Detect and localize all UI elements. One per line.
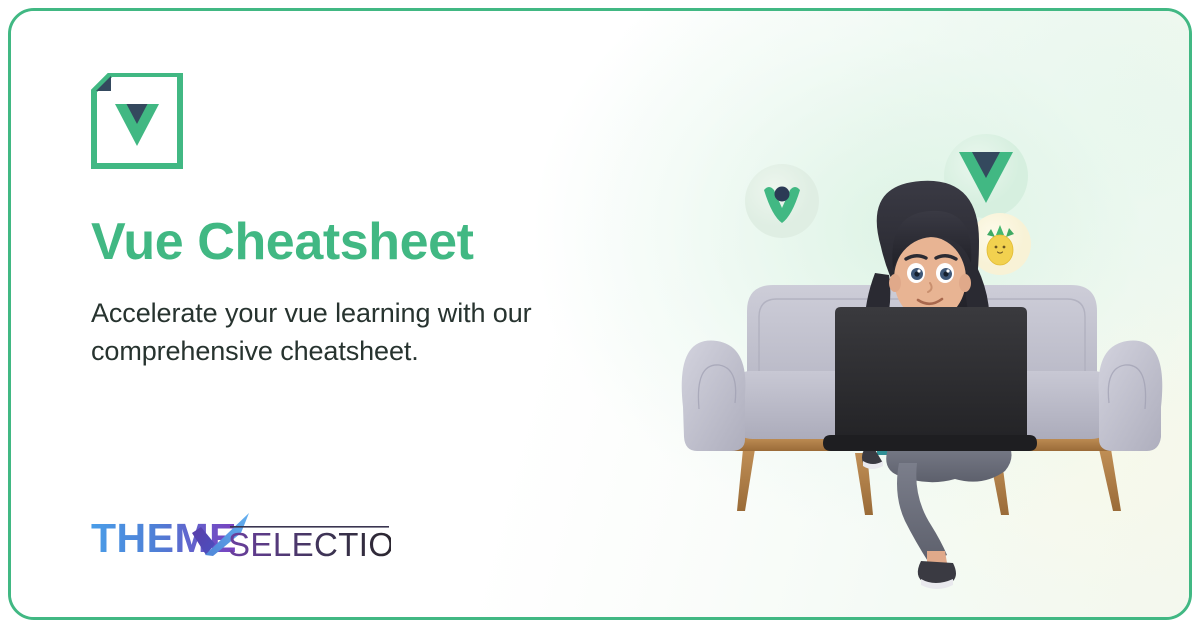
page-title: Vue Cheatsheet (91, 215, 474, 270)
cheatsheet-card: Vue Cheatsheet Accelerate your vue learn… (8, 8, 1192, 620)
vue-v-icon (115, 104, 159, 146)
vue-document-logo (91, 73, 183, 169)
laptop (823, 307, 1037, 451)
ankle (927, 551, 947, 563)
pineapple-icon (987, 225, 1014, 265)
hero-illustration (659, 11, 1179, 620)
themeselection-logo[interactable]: THEME SELECTION (91, 509, 391, 563)
brand-word-selection: SELECTION (228, 526, 391, 563)
vuetify-badge (745, 164, 819, 238)
page-subtitle: Accelerate your vue learning with our co… (91, 294, 621, 371)
left-content-column: Vue Cheatsheet Accelerate your vue learn… (83, 11, 703, 617)
